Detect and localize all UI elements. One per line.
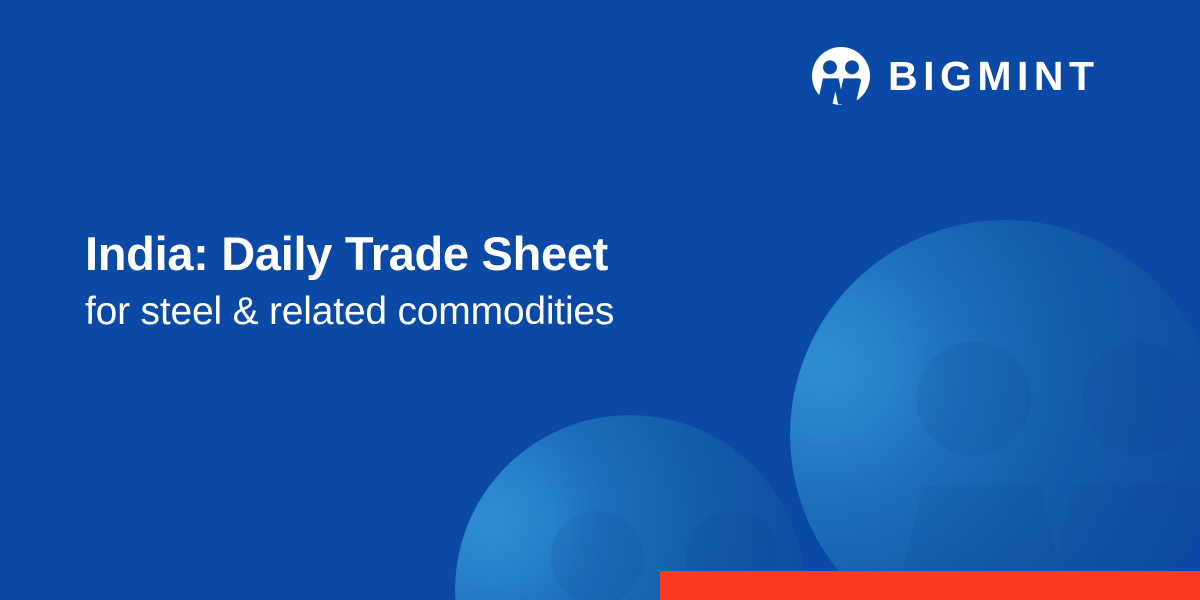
decorative-circle-large xyxy=(790,220,1200,600)
bigmint-watermark-icon xyxy=(859,280,1200,600)
headline-block: India: Daily Trade Sheet for steel & rel… xyxy=(85,228,785,335)
accent-bar xyxy=(660,571,1200,600)
trade-sheet-banner: BIGMINT India: Daily Trade Sheet for ste… xyxy=(0,0,1200,600)
brand-logo-lockup[interactable]: BIGMINT xyxy=(812,47,1100,105)
bigmint-logo-icon xyxy=(812,47,870,105)
brand-wordmark: BIGMINT xyxy=(888,56,1100,97)
page-title: India: Daily Trade Sheet xyxy=(85,228,785,281)
page-subtitle: for steel & related commodities xyxy=(85,289,785,336)
